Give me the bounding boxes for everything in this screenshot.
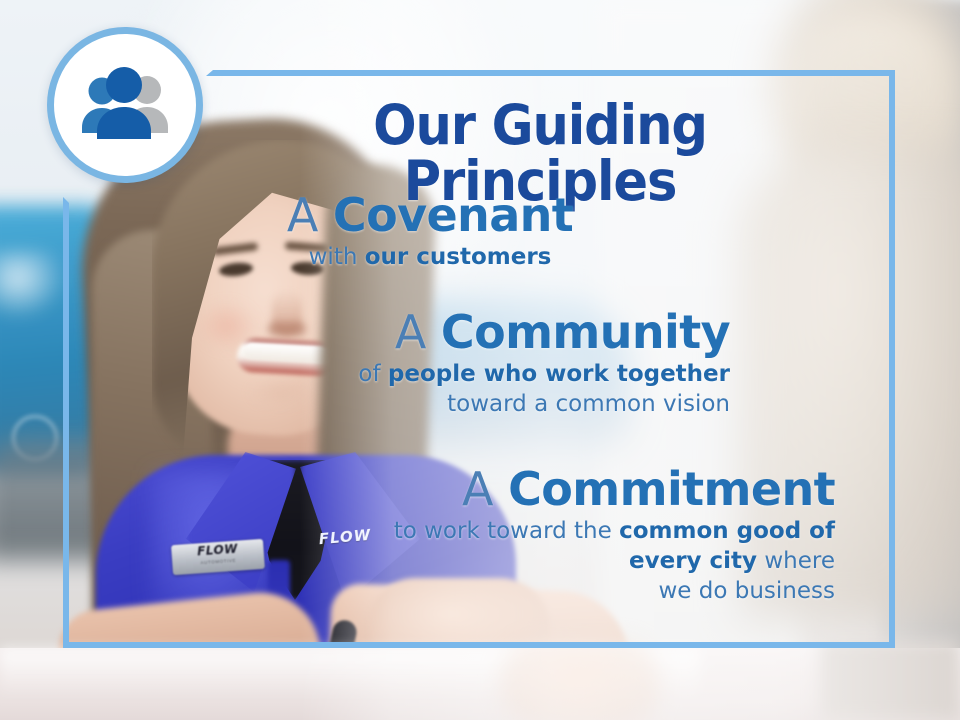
- subtitle-bold: our customers: [365, 244, 552, 270]
- principle-article: A: [287, 188, 333, 242]
- principle-covenant: A Covenant with our customers: [200, 188, 660, 272]
- principle-article: A: [462, 462, 508, 516]
- principle-commitment: A Commitment to work toward the common g…: [375, 462, 835, 606]
- principle-community-subtitle: of people who work together toward a com…: [280, 359, 730, 419]
- subtitle-pre: of: [358, 361, 387, 387]
- principle-keyword: Commitment: [508, 462, 835, 516]
- text-content: Our Guiding Principles A Covenant with o…: [0, 0, 960, 720]
- principle-article: A: [395, 305, 441, 359]
- subtitle-line2: toward a common vision: [280, 389, 730, 419]
- principle-commitment-subtitle: to work toward the common good of every …: [375, 516, 835, 606]
- principle-keyword: Covenant: [333, 188, 573, 242]
- subtitle-bold: people who work together: [388, 361, 730, 387]
- graphic-canvas: FLOW FLOW AUTOMOTIVE: [0, 0, 960, 720]
- principle-community-heading: A Community: [280, 305, 730, 359]
- subtitle-post: where: [757, 548, 835, 574]
- subtitle-pre: to work toward the: [394, 518, 619, 544]
- principle-keyword: Community: [441, 305, 730, 359]
- principle-commitment-heading: A Commitment: [375, 462, 835, 516]
- principle-community: A Community of people who work together …: [280, 305, 730, 419]
- principle-covenant-heading: A Covenant: [200, 188, 660, 242]
- subtitle-line2: we do business: [375, 576, 835, 606]
- principle-covenant-subtitle: with our customers: [200, 242, 660, 272]
- subtitle-pre: with: [309, 244, 365, 270]
